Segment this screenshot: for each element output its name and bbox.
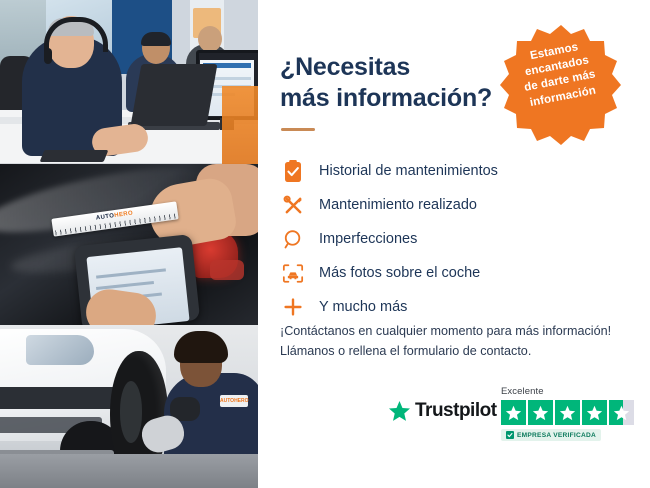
feature-list: Historial de mantenimientos Mantenimient… xyxy=(280,155,540,325)
paragraph-line-1: ¡Contáctanos en cualquier momento para m… xyxy=(280,322,630,342)
rating-star-3 xyxy=(555,400,580,425)
laptop-screen xyxy=(131,64,218,126)
tools-wrench-screwdriver-icon xyxy=(280,193,306,217)
feature-item-fotos: Más fotos sobre el coche xyxy=(280,257,540,289)
trustpilot-star-rating xyxy=(501,400,650,425)
feature-item-imperfecciones: Imperfecciones xyxy=(280,223,540,255)
desk-tablet xyxy=(40,150,109,162)
feature-label: Imperfecciones xyxy=(319,231,417,247)
headset-icon xyxy=(485,32,507,50)
trustpilot-star-icon xyxy=(388,400,411,422)
feature-label: Y mucho más xyxy=(319,299,407,315)
badge-text: Estamos encantados de darte más informac… xyxy=(500,34,618,114)
feature-label: Mantenimiento realizado xyxy=(319,197,477,213)
car-grille xyxy=(0,387,120,409)
tyre-rim xyxy=(120,381,142,443)
second-agent-hair xyxy=(141,32,171,46)
headset-microphone xyxy=(44,48,52,64)
photo-column: AUTOHERO AUTOHERO xyxy=(0,0,258,488)
plus-icon xyxy=(280,295,306,319)
mechanic-uniform-badge: AUTOHERO xyxy=(220,395,248,407)
mechanic-hair xyxy=(174,331,228,363)
feature-item-mucho-mas: Y mucho más xyxy=(280,291,540,323)
paragraph-line-2: Llámanos o rellena el formulario de cont… xyxy=(280,342,630,362)
feature-item-mantenimiento: Mantenimiento realizado xyxy=(280,189,540,221)
rating-star-2 xyxy=(528,400,553,425)
rating-star-4 xyxy=(582,400,607,425)
feature-label: Historial de mantenimientos xyxy=(319,163,498,179)
trustpilot-rating-block: Excelente xyxy=(501,386,650,443)
verified-company-badge: EMPRESA VERIFICADA xyxy=(501,429,601,441)
magnifier-icon xyxy=(280,227,306,251)
badge-content: Estamos encantados de darte más informac… xyxy=(485,11,637,163)
photo-call-center-agents-with-headsets xyxy=(0,0,258,164)
car-photo-focus-icon xyxy=(280,261,306,285)
verified-check-icon xyxy=(506,431,514,439)
contact-paragraph: ¡Contáctanos en cualquier momento para m… xyxy=(280,322,630,361)
photo-mechanic-inspecting-car-wheel-on-lift: AUTOHERO xyxy=(0,325,258,488)
verified-company-label: EMPRESA VERIFICADA xyxy=(517,432,596,439)
trustpilot-widget[interactable]: Trustpilot Excelente xyxy=(388,386,650,448)
clipboard-check-icon xyxy=(280,159,306,183)
promo-starburst-badge: Estamos encantados de darte más informac… xyxy=(496,22,626,152)
feature-item-historial: Historial de mantenimientos xyxy=(280,155,540,187)
photo-inspector-measuring-car-with-autohero-ruler-and-tablet: AUTOHERO xyxy=(0,164,258,325)
promo-banner: AUTOHERO AUTOHERO xyxy=(0,0,650,488)
headline-line-2: más información? xyxy=(280,83,530,114)
trustpilot-logo[interactable]: Trustpilot xyxy=(388,400,497,422)
third-agent-head xyxy=(198,26,222,52)
car-headlight xyxy=(26,335,94,365)
feature-label: Más fotos sobre el coche xyxy=(319,265,480,281)
rating-star-5-partial xyxy=(609,400,634,425)
trustpilot-brand-text: Trustpilot xyxy=(415,400,497,422)
orange-equipment xyxy=(222,86,258,164)
trustpilot-rating-label: Excelente xyxy=(501,386,650,397)
workshop-floor xyxy=(0,454,258,488)
title-underline-rule xyxy=(281,128,315,131)
car-tail-light-lower xyxy=(210,260,244,280)
content-panel: ¿Necesitas más información? Estamos enca… xyxy=(258,0,650,488)
rating-star-1 xyxy=(501,400,526,425)
